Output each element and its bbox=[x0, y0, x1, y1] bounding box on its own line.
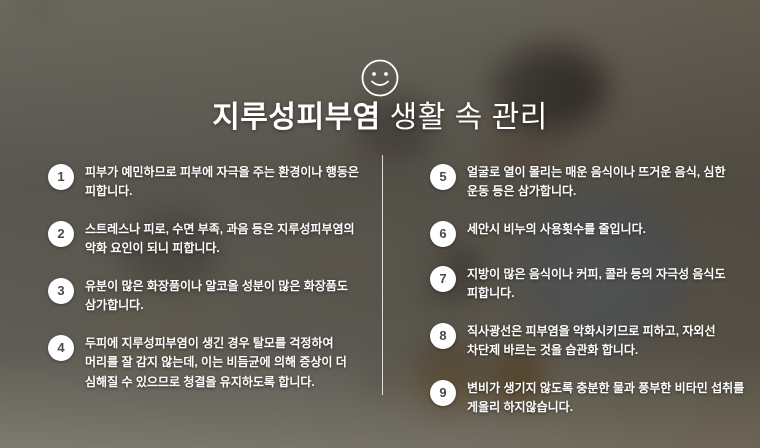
list-item: 7 지방이 많은 음식이나 커피, 콜라 등의 자극성 음식도 피합니다. bbox=[430, 265, 746, 304]
tip-text: 지방이 많은 음식이나 커피, 콜라 등의 자극성 음식도 피합니다. bbox=[467, 265, 746, 304]
tip-text: 두피에 지루성피부염이 생긴 경우 탈모를 걱정하여 머리를 잘 감지 않는데,… bbox=[85, 334, 364, 392]
tips-column-left: 1 피부가 예민하므로 피부에 자극을 주는 환경이나 행동은 피합니다. 2 … bbox=[0, 163, 380, 436]
tip-number-badge: 6 bbox=[430, 221, 456, 247]
tip-number-badge: 3 bbox=[48, 278, 74, 304]
list-item: 5 얼굴로 열이 몰리는 매운 음식이나 뜨거운 음식, 심한 운동 등은 삼가… bbox=[430, 163, 746, 202]
tips-columns: 1 피부가 예민하므로 피부에 자극을 주는 환경이나 행동은 피합니다. 2 … bbox=[0, 163, 760, 436]
tip-number-badge: 2 bbox=[48, 221, 74, 247]
tip-number-badge: 9 bbox=[430, 380, 456, 406]
tips-column-right: 5 얼굴로 열이 몰리는 매운 음식이나 뜨거운 음식, 심한 운동 등은 삼가… bbox=[380, 163, 760, 436]
list-item: 3 유분이 많은 화장품이나 알코올 성분이 많은 화장품도 삼가합니다. bbox=[48, 277, 364, 316]
tip-text: 얼굴로 열이 몰리는 매운 음식이나 뜨거운 음식, 심한 운동 등은 삼가합니… bbox=[467, 163, 746, 202]
page-title: 지루성피부염 생활 속 관리 bbox=[0, 99, 760, 137]
list-item: 4 두피에 지루성피부염이 생긴 경우 탈모를 걱정하여 머리를 잘 감지 않는… bbox=[48, 334, 364, 392]
smiley-face-icon bbox=[360, 58, 400, 98]
tip-text: 변비가 생기지 않도록 충분한 물과 풍부한 비타민 섭취를 게을리 하지않습니… bbox=[467, 379, 746, 418]
smiley-icon-container bbox=[0, 58, 760, 98]
page-title-light: 생활 속 관리 bbox=[381, 101, 548, 134]
page-title-strong: 지루성피부염 bbox=[212, 101, 381, 134]
list-item: 6 세안시 비누의 사용횟수를 줄입니다. bbox=[430, 220, 746, 247]
tip-number-badge: 8 bbox=[430, 323, 456, 349]
poster-content: 지루성피부염 생활 속 관리 1 피부가 예민하므로 피부에 자극을 주는 환경… bbox=[0, 0, 760, 448]
tip-number-badge: 1 bbox=[48, 164, 74, 190]
infographic-poster: 지루성피부염 생활 속 관리 1 피부가 예민하므로 피부에 자극을 주는 환경… bbox=[0, 0, 760, 448]
tip-text: 스트레스나 피로, 수면 부족, 과음 등은 지루성피부염의 악화 요인이 되니… bbox=[85, 220, 364, 259]
tip-text: 유분이 많은 화장품이나 알코올 성분이 많은 화장품도 삼가합니다. bbox=[85, 277, 364, 316]
tip-text: 피부가 예민하므로 피부에 자극을 주는 환경이나 행동은 피합니다. bbox=[85, 163, 364, 202]
list-item: 1 피부가 예민하므로 피부에 자극을 주는 환경이나 행동은 피합니다. bbox=[48, 163, 364, 202]
list-item: 9 변비가 생기지 않도록 충분한 물과 풍부한 비타민 섭취를 게을리 하지않… bbox=[430, 379, 746, 418]
tip-number-badge: 4 bbox=[48, 335, 74, 361]
tip-text: 세안시 비누의 사용횟수를 줄입니다. bbox=[467, 220, 646, 239]
tip-number-badge: 7 bbox=[430, 266, 456, 292]
tip-number-badge: 5 bbox=[430, 164, 456, 190]
list-item: 8 직사광선은 피부염을 악화시키므로 피하고, 자외선 차단제 바르는 것을 … bbox=[430, 322, 746, 361]
tip-text: 직사광선은 피부염을 악화시키므로 피하고, 자외선 차단제 바르는 것을 습관… bbox=[467, 322, 746, 361]
list-item: 2 스트레스나 피로, 수면 부족, 과음 등은 지루성피부염의 악화 요인이 … bbox=[48, 220, 364, 259]
